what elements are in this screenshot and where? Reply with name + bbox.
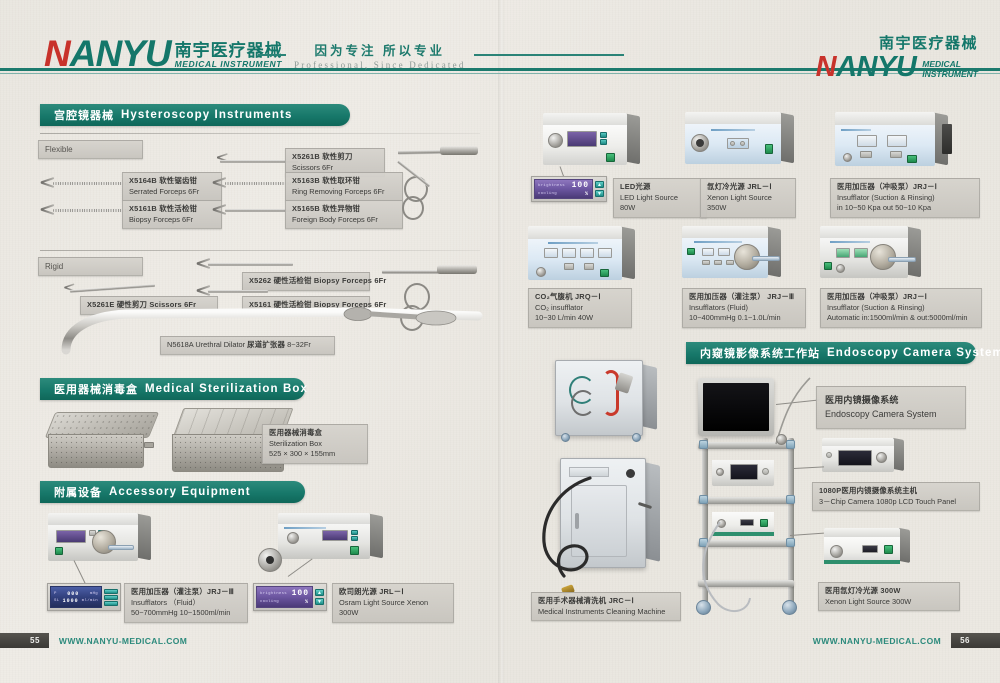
section-title-en: Hysteroscopy Instruments — [121, 109, 292, 121]
co2-top-panel — [528, 226, 622, 240]
co2-button-a[interactable] — [564, 263, 574, 270]
co2-display-1 — [544, 248, 558, 258]
dilator-code: N5618A — [167, 340, 193, 349]
label-led-light-source: LED光源 LED Light Source 80W — [613, 178, 707, 218]
device-insufflator-fluid — [48, 513, 138, 561]
led-top-panel — [543, 113, 627, 127]
lcd-glass-light-source: brightness 100 cooling % — [256, 586, 313, 608]
cn-x5262: 硬性活检钳 — [274, 276, 312, 285]
suction-display-b — [887, 135, 907, 147]
device-insufflator-fluid-jrj3 — [682, 226, 768, 278]
code-x5165b: X5165B — [292, 204, 320, 213]
fluid-button-b[interactable] — [714, 260, 722, 265]
cn-x5161b: 软性活检钳 — [159, 204, 197, 213]
label-insufflator-fluid: 医用加压器（灌注泵）JRJ－Ⅲ Insufflators （Fluid） 50~… — [124, 583, 248, 623]
forceps-jaw-x5165b — [212, 204, 226, 215]
code-x5163b: X5163B — [292, 176, 320, 185]
lcd-label-pressure: P — [54, 592, 57, 596]
cart-joint-1-left — [699, 440, 708, 449]
en-x5164b: Serrated Forceps 6Fr — [129, 187, 215, 198]
lcd-closeup-light-source: brightness 100 cooling % ▲ ▼ — [253, 583, 327, 611]
lcd-value-pressure: 000 — [67, 591, 79, 597]
rigid-forceps-shaft-x5161 — [208, 290, 268, 293]
row1-1-cn: 氙灯冷光源 JRL－Ⅰ — [707, 182, 789, 193]
camera-head-coupler — [776, 434, 787, 445]
tagline-en: Professional, Since Dedicated — [294, 60, 466, 70]
camera-host-side — [893, 438, 904, 471]
code-x5261b: X5261B — [292, 152, 320, 161]
page-number-right: 56 — [951, 633, 1000, 648]
xenon-top-panel — [685, 112, 781, 126]
device-lcd-screen — [56, 530, 86, 543]
website-url-left[interactable]: WWW.NANYU-MEDICAL.COM — [49, 636, 197, 646]
led-lcd-value-cooling: % — [585, 191, 589, 197]
row1-1-en: Xenon Light Source — [707, 193, 789, 204]
row1-2-en: Insufflator (Suction & Rinsing) — [837, 193, 973, 204]
auto-display-2 — [854, 248, 868, 258]
website-url-right[interactable]: WWW.NANYU-MEDICAL.COM — [803, 636, 951, 646]
brand-logo-right: 南宇医疗器械 NANYU MEDICAL INSTRUMENT — [816, 32, 978, 82]
fluid-power-button[interactable] — [687, 248, 695, 255]
lcd-closeup-led: brightness 100 cooling % ▲ ▼ — [531, 176, 607, 202]
led-lcd-buttons[interactable]: ▲ ▼ — [595, 181, 604, 197]
rigid-scissors-shaft-x5261e — [70, 284, 155, 293]
auto-power-button[interactable] — [824, 262, 832, 270]
xenon-branding-strip — [711, 129, 755, 131]
forceps-jaw-x5164b — [40, 177, 54, 188]
row2-2-spec: Automatic in:1500ml/min & out:5000ml/min — [827, 313, 975, 324]
code-x5164b: X5164B — [129, 176, 157, 185]
section-banner-camera-system: 内窥镜影像系统工作站 Endoscopy Camera System — [686, 342, 976, 364]
label-insufflator-suction-rinsing: 医用加压器（冲吸泵）JRJ－Ⅰ Insufflator (Suction & R… — [830, 178, 980, 218]
fluid-button-a[interactable] — [702, 260, 710, 265]
tagline-block: 因为专注 所以专业 Professional, Since Dedicated — [258, 40, 624, 70]
lcd-value-cooling: % — [305, 599, 309, 605]
cleaning-upper-side — [642, 364, 657, 429]
suction-power-button[interactable] — [907, 155, 917, 163]
sterilization-box-cn: 医用器械消毒盒 — [269, 428, 361, 439]
device-button-down-2[interactable] — [351, 536, 358, 541]
dilator-en: Urethral Dilator — [195, 340, 245, 349]
label-1080p-camera-host: 1080P医用内镜摄像系统主机 3－Chip Camera 1080p LCD … — [812, 482, 980, 511]
forceps-jaw-x5161b — [40, 204, 54, 215]
page-gutter — [498, 0, 504, 683]
lcd-unit-pressure: mHg — [90, 592, 98, 596]
leader-line-light-source — [288, 558, 313, 576]
label-urethral-dilator: N5618A Urethral Dilator 尿道扩张器 8~32Fr — [160, 336, 335, 355]
fluid-front-panel — [682, 238, 768, 278]
light-guide-aperture — [266, 556, 274, 564]
brand-wordmark: NANYU — [44, 36, 171, 71]
en-x5262: Biopsy Forceps 6Fr — [314, 276, 387, 285]
brand-wordmark-right: NANYU — [816, 53, 917, 82]
leader-line-camera-host — [794, 466, 824, 469]
footer-right: WWW.NANYU-MEDICAL.COM 56 — [803, 633, 1000, 648]
xenon300-side — [899, 528, 910, 563]
device-insufflator-suction-rinsing — [835, 112, 935, 166]
label-cleaning-machine: 医用手术器械清洗机 JRC－Ⅰ Medical Instruments Clea… — [531, 592, 681, 621]
device-insufflator-auto — [820, 226, 908, 278]
cn-x5164b: 软性锯齿钳 — [159, 176, 197, 185]
leader-line-insufflator — [74, 560, 86, 584]
label-instrument-x5163b: X5163B 软性取环钳 Ring Removing Forceps 6Fr — [285, 172, 403, 201]
camera-callout-0-cn: 医用内镜摄像系统 — [825, 393, 957, 407]
co2-button-b[interactable] — [584, 263, 594, 270]
cleaning-lower-side — [645, 462, 660, 561]
device-lcd-screen-2 — [322, 530, 348, 541]
fluid-display-2 — [718, 248, 730, 256]
fluid-pump-tube — [752, 256, 780, 261]
cn-x5261b: 软性剪刀 — [322, 152, 352, 161]
device-light-port — [287, 532, 299, 544]
device-co2-insufflator — [528, 226, 622, 280]
cleaning-machine-cn: 医用手术器械清洗机 JRC－Ⅰ — [538, 596, 674, 607]
label-endoscopy-camera-system: 医用内镜摄像系统 Endoscopy Camera System — [816, 386, 966, 429]
suction-button-b[interactable] — [890, 151, 902, 158]
lcd-value-brightness: 100 — [292, 589, 309, 598]
co2-side-panel — [621, 227, 635, 279]
led-front-panel — [543, 125, 627, 165]
label-co2-insufflator: CO₂气腹机 JRQ－Ⅰ CO₂ insufflator 10~30 L/min… — [528, 288, 632, 328]
sterilization-box-latch — [144, 442, 154, 448]
co2-power-button[interactable] — [600, 269, 609, 277]
led-lcd-label-cooling: cooling — [538, 192, 557, 196]
fluid-branding-strip — [694, 241, 742, 243]
label-sterilization-box: 医用器械消毒盒 Sterilization Box 525 × 300 × 15… — [262, 424, 368, 464]
row2-1-spec: 10~400mmHg 0.1~1.0L/min — [689, 313, 799, 324]
auto-branding-strip — [830, 241, 870, 243]
section-title-cn-sterilization: 医用器械消毒盒 — [54, 381, 138, 397]
auto-port — [836, 264, 845, 273]
sterilization-box-closed — [48, 412, 160, 474]
accessory-0-en: Insufflators （Fluid） — [131, 598, 241, 609]
co2-branding-strip — [548, 242, 598, 244]
xenon300-top — [824, 528, 900, 537]
suction-front-panel — [835, 125, 935, 166]
cleaning-machine-en: Medical Instruments Cleaning Machine — [538, 607, 674, 618]
lcd-button-pair[interactable]: ▲ ▼ — [315, 589, 324, 605]
xenon300-light-port — [830, 545, 843, 558]
camera-host-connector — [876, 452, 887, 463]
endoscope-light-cable — [690, 500, 800, 620]
device-osram-light-source — [278, 513, 370, 559]
tagline-dash-right — [474, 54, 624, 56]
section-title-cn-accessory: 附属设备 — [54, 484, 102, 500]
endoscopy-monitor — [698, 378, 774, 436]
xenon-side-panel — [780, 113, 794, 164]
camera-callout-2-cn: 医用氙灯冷光源 300W — [825, 586, 953, 597]
suction-branding-strip — [841, 129, 871, 131]
suction-inlet-port — [843, 153, 852, 162]
lcd-button-2[interactable] — [104, 595, 118, 600]
auto-top-panel — [820, 226, 908, 240]
section-title-en-camera: Endoscopy Camera System — [827, 347, 1000, 359]
section-title-en-sterilization: Medical Sterilization Box — [145, 383, 308, 395]
cleaning-upper-caster-left — [561, 433, 570, 442]
accessory-1-cn: 欧司朗光源 JRL－Ⅰ — [339, 587, 447, 598]
xenon300-face — [824, 537, 900, 564]
row2-2-cn: 医用加压器（冲吸泵）JRJ－Ⅰ — [827, 292, 975, 303]
label-xenon-light-source: 氙灯冷光源 JRL－Ⅰ Xenon Light Source 350W — [700, 178, 796, 218]
section-banner-sterilization: 医用器械消毒盒 Medical Sterilization Box — [40, 378, 305, 400]
row1-2-cn: 医用加压器（冲吸泵）JRJ－Ⅰ — [837, 182, 973, 193]
tagline-dash-left — [258, 54, 286, 56]
co2-gas-port — [536, 267, 546, 277]
row2-2-en-real: Insufflator (Suction & Rinsing) — [827, 303, 975, 314]
lcd-button-increase[interactable]: ▲ — [315, 589, 324, 596]
pump-tube-arm — [108, 545, 134, 550]
camera-host-touch-panel — [838, 450, 872, 466]
xenon300-accent-strip — [824, 560, 900, 564]
fluid-display-1 — [702, 248, 714, 256]
lcd-label-flow: SL — [54, 599, 59, 603]
monitor-display — [703, 383, 769, 431]
fluid-button-c[interactable] — [726, 260, 734, 265]
led-lcd-screen — [567, 131, 597, 147]
accessory-1-en: Osram Light Source Xenon — [339, 598, 447, 609]
auto-display-1 — [836, 248, 850, 258]
row1-2-spec: in 10~50 Kpa out 50~10 Kpa — [837, 203, 973, 214]
page-number-left: 55 — [0, 633, 49, 648]
row1-0-spec: 80W — [620, 203, 700, 214]
lcd-value-flow: 1000 — [63, 598, 79, 604]
lcd-button-1[interactable] — [104, 589, 118, 594]
camera-callout-2-en: Xenon Light Source 300W — [825, 597, 953, 608]
row2-1-cn: 医用加压器（灌注泵） JRJ－Ⅲ — [689, 292, 799, 303]
camera-callout-1-cn: 1080P医用内镜摄像系统主机 — [819, 486, 973, 497]
footer-left: 55 WWW.NANYU-MEDICAL.COM — [0, 633, 197, 648]
group-label-rigid: Rigid — [38, 257, 143, 276]
divider-flexible — [40, 133, 480, 134]
cart-camera-face — [712, 460, 774, 486]
device-1080p-camera-host — [822, 438, 894, 472]
label-instrument-x5161b: X5161B 软性活检钳 Biopsy Forceps 6Fr — [122, 200, 222, 229]
device-led-light-source — [543, 113, 627, 165]
lcd-button-decrease[interactable]: ▼ — [315, 598, 324, 605]
lcd-button-column[interactable] — [104, 589, 118, 606]
fluid-top-panel — [682, 226, 768, 240]
cart-camera-touch-panel — [730, 464, 758, 480]
row1-0-cn: LED光源 — [620, 182, 700, 193]
rigid-forceps-shaft-x5262 — [208, 263, 293, 266]
accessory-0-spec: 50~700mmHg 10~1500ml/min — [131, 608, 241, 619]
xenon300-power-button[interactable] — [884, 545, 893, 554]
row1-0-en: LED Light Source — [620, 193, 700, 204]
lcd-label-brightness: brightness — [260, 592, 287, 596]
sterilization-box-size: 525 × 300 × 155mm — [269, 449, 361, 460]
tagline-cn: 因为专注 所以专业 — [315, 40, 445, 59]
peristaltic-pump-head — [92, 530, 116, 554]
code-x5161b: X5161B — [129, 204, 157, 213]
section-title-en-accessory: Accessory Equipment — [109, 486, 251, 498]
forceps-jaw-x5163b — [212, 177, 226, 188]
device-side-panel — [137, 514, 151, 561]
camera-host-indicator — [826, 452, 832, 458]
led-lcd-button-down[interactable]: ▼ — [595, 190, 604, 197]
led-lcd-label-brightness: brightness — [538, 184, 565, 188]
device-top-panel — [48, 513, 138, 525]
auto-pump-tube — [888, 257, 916, 262]
camera-callout-0-en: Endoscopy Camera System — [825, 407, 957, 421]
label-instrument-x5262: X5262 硬性活检钳 Biopsy Forceps 6Fr — [242, 272, 370, 291]
suction-rear-connector-block — [942, 124, 952, 154]
section-banner-accessory: 附属设备 Accessory Equipment — [40, 481, 305, 503]
xenon-front-panel — [685, 124, 781, 164]
co2-display-4 — [598, 248, 612, 258]
xenon-power-button[interactable] — [765, 144, 773, 154]
row2-0-spec: 10~30 L/min 40W — [535, 313, 625, 324]
led-side-panel — [626, 114, 640, 165]
scissors-ring-upper-b — [402, 196, 424, 220]
section-title-cn-camera: 内窥镜影像系统工作站 — [700, 345, 820, 361]
hysteroscope-handle-lower — [437, 265, 477, 274]
divider-rigid — [40, 250, 480, 251]
device-branding-strip — [284, 527, 326, 529]
device-front-panel-2 — [278, 524, 370, 559]
device-xenon-light-source — [685, 112, 781, 164]
accessory-1-spec: 300W — [339, 608, 447, 619]
lcd-button-3[interactable] — [104, 601, 118, 606]
auto-side-panel — [907, 227, 921, 278]
suction-button-a[interactable] — [860, 151, 872, 158]
device-front-panel — [48, 525, 138, 561]
cart-camera-button[interactable] — [762, 468, 769, 475]
co2-display-2 — [562, 248, 576, 258]
suction-top-panel — [835, 112, 935, 126]
cleaning-hose-coil-red — [603, 370, 619, 416]
label-insufflator-fluid-jrj3: 医用加压器（灌注泵） JRJ－Ⅲ Insufflators (Fluid) 10… — [682, 288, 806, 328]
group-label-flexible: Flexible — [38, 140, 143, 159]
camera-head-cable — [770, 370, 830, 460]
brand-en-line2-right: INSTRUMENT — [922, 70, 978, 80]
accessory-0-cn: 医用加压器（灌注泵）JRJ－Ⅲ — [131, 587, 241, 598]
cleaning-machine-hose — [520, 470, 600, 600]
brand-name-cn-right: 南宇医疗器械 — [816, 32, 978, 53]
cart-camera-port — [716, 468, 724, 476]
led-lcd-button-up[interactable]: ▲ — [595, 181, 604, 188]
xenon300-display — [862, 545, 878, 553]
cleaning-upper-front — [555, 360, 643, 436]
label-xenon-300w: 医用氙灯冷光源 300W Xenon Light Source 300W — [818, 582, 960, 611]
label-instrument-x5164b: X5164B 软性锯齿钳 Serrated Forceps 6Fr — [122, 172, 222, 201]
device-button-up-2[interactable] — [351, 530, 358, 535]
code-x5262: X5262 — [249, 276, 271, 285]
lcd-unit-flow: ml/min — [82, 599, 98, 603]
label-osram-light-source: 欧司朗光源 JRL－Ⅰ Osram Light Source Xenon 300… — [332, 583, 454, 623]
cleaning-lower-indicator — [626, 469, 635, 478]
section-banner-hysteroscopy: 宫腔镜器械 Hysteroscopy Instruments — [40, 104, 350, 126]
label-insufflator-auto: 医用加压器（冲吸泵）JRJ－Ⅰ Insufflator (Suction & R… — [820, 288, 982, 328]
cart-camera-unit — [712, 460, 774, 486]
brand-logo-left: NANYU 南宇医疗器械 MEDICAL INSTRUMENT — [44, 36, 283, 71]
cn-x5165b: 软性异物钳 — [322, 204, 360, 213]
co2-display-3 — [580, 248, 594, 258]
row2-0-en: CO₂ insufflator — [535, 303, 625, 314]
cn-x5163b: 软性取环钳 — [322, 176, 360, 185]
sterilization-box-en: Sterilization Box — [269, 439, 361, 450]
suction-display-a — [857, 135, 877, 147]
lcd-closeup-insufflator: P 000 mHg SL 1000 ml/min — [47, 583, 121, 611]
en-x5165b: Foreign Body Forceps 6Fr — [292, 215, 396, 226]
cleaning-upper-caster-right — [632, 433, 641, 442]
led-lcd-value-brightness: 100 — [572, 181, 589, 190]
led-light-port — [548, 133, 563, 148]
row2-0-cn: CO₂气腹机 JRQ－Ⅰ — [535, 292, 625, 303]
section-title-cn: 宫腔镜器械 — [54, 107, 114, 123]
co2-front-panel — [528, 239, 622, 280]
en-x5161b: Biopsy Forceps 6Fr — [129, 215, 215, 226]
lcd-glass-led: brightness 100 cooling % — [534, 179, 593, 199]
camera-callout-1-en: 3－Chip Camera 1080p LCD Touch Panel — [819, 497, 973, 508]
dilator-cn: 尿道扩张器 — [247, 340, 285, 349]
device-side-panel-2 — [369, 513, 383, 558]
cleaning-machine-upper — [555, 360, 643, 436]
dilator-size: 8~32Fr — [287, 340, 311, 349]
hysteroscope-handle-upper — [440, 146, 478, 155]
led-power-button[interactable] — [606, 153, 615, 162]
lcd-label-cooling: cooling — [260, 600, 279, 604]
page-header: NANYU 南宇医疗器械 MEDICAL INSTRUMENT 因为专注 所以专… — [0, 0, 1000, 88]
led-button-up[interactable] — [600, 132, 607, 138]
en-x5163b: Ring Removing Forceps 6Fr — [292, 187, 396, 198]
sterilization-box-body — [48, 434, 144, 468]
led-button-down[interactable] — [600, 139, 607, 145]
device-power-button[interactable] — [55, 547, 63, 555]
camera-host-face — [822, 446, 894, 472]
cleaning-hose-coil-grey — [571, 390, 595, 416]
device-power-button-2[interactable] — [350, 546, 359, 555]
lcd-glass-insufflator: P 000 mHg SL 1000 ml/min — [50, 586, 102, 608]
row1-1-spec: 350W — [707, 203, 789, 214]
catalog-page-spread: NANYU 南宇医疗器械 MEDICAL INSTRUMENT 因为专注 所以专… — [0, 0, 1000, 683]
row2-1-en: Insufflators (Fluid) — [689, 303, 799, 314]
fluid-side-panel — [767, 227, 781, 278]
auto-front-panel — [820, 238, 908, 278]
device-xenon-300w — [824, 528, 900, 564]
label-instrument-x5165b: X5165B 软性异物钳 Foreign Body Forceps 6Fr — [285, 200, 403, 229]
